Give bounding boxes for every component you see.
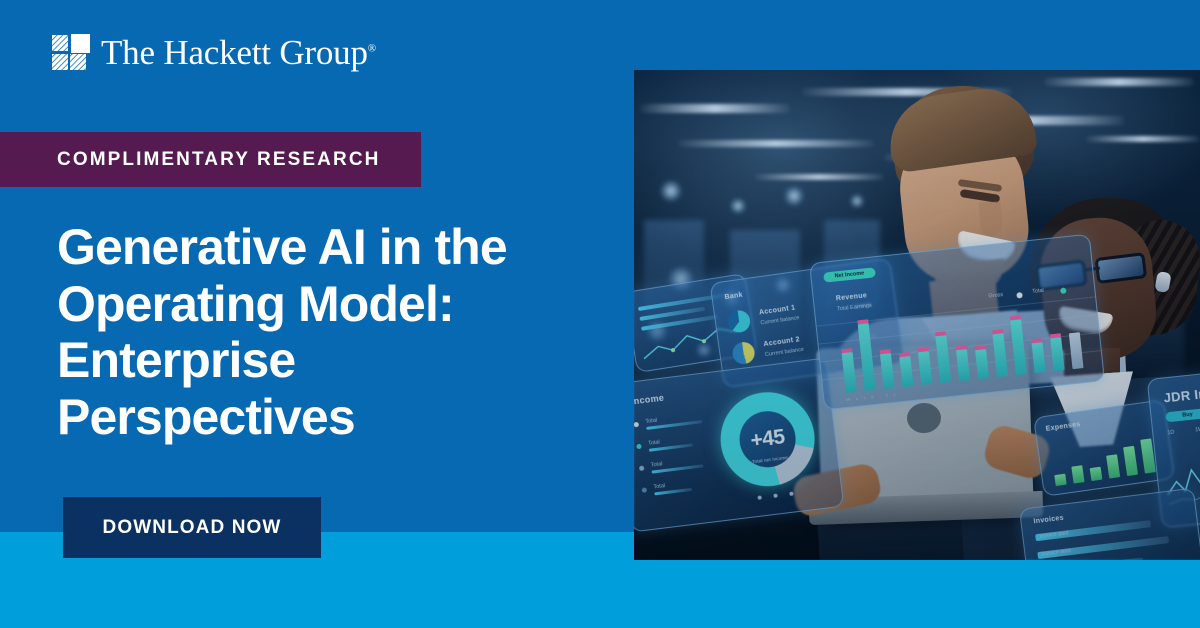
hud-bar <box>1032 343 1046 374</box>
registered-trademark-icon: ® <box>368 42 376 54</box>
hud-bank-row-label: Account 1 <box>759 305 796 317</box>
hud-stock-buy-button[interactable]: Buy <box>1165 408 1200 423</box>
hud-bar <box>918 351 932 385</box>
bokeh-light <box>660 180 682 202</box>
hud-dot <box>757 495 761 499</box>
brand-wordmark: The Hackett Group® <box>101 33 376 73</box>
ceiling-light-strip <box>1044 78 1194 86</box>
eyebrow-badge: COMPLIMENTARY RESEARCH <box>0 132 421 187</box>
hud-income-title: Income <box>634 393 665 407</box>
hud-bar <box>899 356 913 387</box>
hud-income-legend: Total <box>651 461 663 468</box>
hud-income-legend: Total <box>645 418 657 425</box>
hud-bank-pie-2 <box>731 341 756 366</box>
hud-bank-row-sub: Current balance <box>765 347 805 358</box>
hud-bar <box>1090 466 1103 481</box>
man-nose <box>979 201 1003 236</box>
hud-bar <box>975 349 989 379</box>
hud-bar <box>935 335 951 383</box>
hud-bar <box>1010 320 1027 376</box>
bokeh-light <box>784 186 804 206</box>
hud-bar <box>993 334 1008 377</box>
hud-stock-title: JDR Inc. <box>1163 385 1200 406</box>
hud-revenue-bars <box>838 291 1095 393</box>
hud-stock-tab[interactable]: 1W <box>1195 427 1200 434</box>
hud-revenue-badge: Net Income <box>823 267 876 282</box>
hud-bar <box>1054 474 1066 486</box>
hud-income-donut: +45 Total net income <box>715 387 820 492</box>
hud-bar <box>842 353 857 393</box>
hud-growth-title: Expenses <box>1045 421 1081 433</box>
hud-income-donut-caption: Total net income <box>723 451 817 467</box>
hud-bar <box>880 353 895 389</box>
eyebrow-badge-label: COMPLIMENTARY RESEARCH <box>0 149 380 171</box>
hud-bar <box>1050 338 1064 372</box>
hud-revenue-title: Revenue <box>836 292 868 302</box>
hud-growth-bars <box>1050 428 1161 486</box>
ceiling-light-strip <box>640 104 790 113</box>
hud-bar <box>1071 465 1084 483</box>
hud-legend-dot <box>639 466 645 472</box>
hud-legend-dot <box>636 444 642 450</box>
hud-revenue-subtitle: Total Earnings <box>837 303 872 313</box>
hud-panel-income[interactable]: Income Total Total Total Total +45 Total… <box>634 358 844 533</box>
hud-invoice-row <box>1040 557 1144 560</box>
hud-bank-pie-1 <box>727 309 752 334</box>
hud-bank-title: Bank <box>724 292 743 301</box>
bokeh-light <box>730 198 746 214</box>
hud-revenue-legend: Gross <box>988 292 1003 300</box>
brand-wordmark-text: The Hackett Group <box>101 33 368 72</box>
download-now-button[interactable]: DOWNLOAD NOW <box>63 497 321 558</box>
hud-panel-revenue[interactable]: Net Income Revenue Total Earnings Gross … <box>809 234 1105 411</box>
hud-bar <box>1123 446 1138 476</box>
hackett-squares-icon <box>52 34 90 72</box>
hud-bank-row-label: Account 2 <box>763 336 800 348</box>
hud-bank-row-sub: Current balance <box>760 315 800 326</box>
hud-income-legend: Total <box>648 439 660 446</box>
hud-legend-dot <box>634 422 639 428</box>
hud-legend-dot <box>642 487 648 493</box>
hud-invoices-title: Invoices <box>1033 515 1064 526</box>
download-now-label: DOWNLOAD NOW <box>103 517 282 539</box>
hud-bar <box>858 323 876 391</box>
hud-bar <box>1069 332 1084 369</box>
hero-photo: Bank Account 1 Current balance Account 2… <box>634 70 1200 560</box>
hud-income-legend: Total <box>653 483 665 490</box>
hud-income-donut-value: +45 <box>749 425 786 453</box>
hud-bar <box>956 349 970 381</box>
page-title: Generative AI in the Operating Model: En… <box>57 219 587 445</box>
glasses-lens-right <box>1094 252 1147 284</box>
hud-revenue-legend: Total <box>1032 288 1044 295</box>
hud-dot <box>773 493 777 497</box>
hud-stock-tab[interactable]: 1D <box>1167 430 1175 437</box>
brand-logo: The Hackett Group® <box>52 33 376 73</box>
hud-revenue-ticks: Week 01 <box>846 391 901 402</box>
hud-bar <box>1106 454 1120 478</box>
hud-dot <box>789 492 793 496</box>
